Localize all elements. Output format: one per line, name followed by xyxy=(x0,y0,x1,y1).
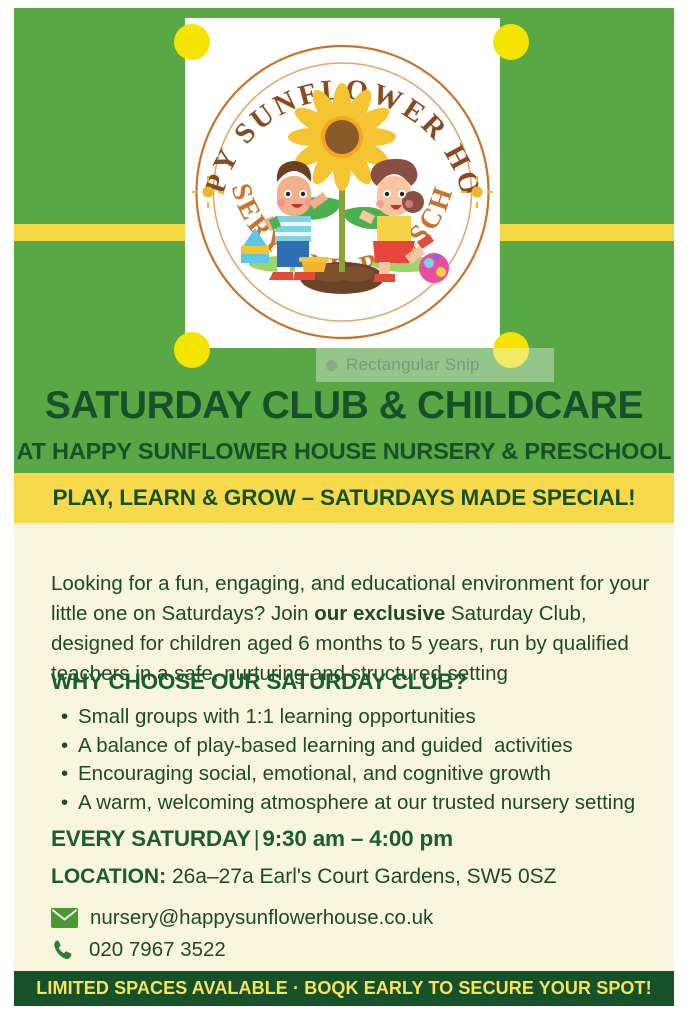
phone-number[interactable]: 020 7967 3522 xyxy=(89,938,226,962)
corner-dot-top-right xyxy=(493,24,529,60)
intro-bold: our exclusive xyxy=(314,602,445,625)
email-row[interactable]: nursery@happysunflowerhouse.co.uk xyxy=(51,906,433,930)
list-item: A warm, welcoming atmosphere at our trus… xyxy=(61,789,671,818)
schedule-label: EVERY SATURDAY xyxy=(51,826,251,851)
poster-frame: HAPPY SUNFLOWER HOUSE NURSERY AND PRESCH… xyxy=(0,0,688,1015)
rectangular-snip-watermark: Rectangular Snip xyxy=(316,348,554,382)
circle-icon xyxy=(326,360,337,371)
logo-illustration: HAPPY SUNFLOWER HOUSE NURSERY AND PRESCH… xyxy=(191,24,494,342)
schedule-separator: | xyxy=(254,826,260,851)
list-item: A balance of play-based learning and gui… xyxy=(61,732,671,761)
schedule-line: EVERY SATURDAY|9:30 am – 4:00 pm xyxy=(51,826,453,852)
why-heading: WHY CHOOSE OUR SATURDAY CLUB? xyxy=(51,669,467,695)
footer-text: LIMITED SPACES AVALABLE · BOQK EARLY TO … xyxy=(36,978,651,999)
benefits-list: Small groups with 1:1 learning opportuni… xyxy=(61,703,671,817)
tagline-banner: PLAY, LEARN & GROW – SATURDAYS MADE SPEC… xyxy=(14,473,674,523)
body-section: Looking for a fun, engaging, and educati… xyxy=(14,523,674,964)
poster: HAPPY SUNFLOWER HOUSE NURSERY AND PRESCH… xyxy=(14,8,674,1006)
corner-dot-bottom-left xyxy=(174,332,210,368)
envelope-icon xyxy=(51,908,78,928)
list-item: Encouraging social, emotional, and cogni… xyxy=(61,760,671,789)
email-address[interactable]: nursery@happysunflowerhouse.co.uk xyxy=(90,906,433,930)
snip-label: Rectangular Snip xyxy=(346,355,480,375)
logo-badge: HAPPY SUNFLOWER HOUSE NURSERY AND PRESCH… xyxy=(191,24,494,342)
page-title: SATURDAY CLUB & CHILDCARE xyxy=(14,384,674,428)
location-label: LOCATION: xyxy=(51,865,166,888)
page-subtitle: AT HAPPY SUNFLOWER HOUSE NURSERY & PRESC… xyxy=(14,438,674,465)
tagline-text: PLAY, LEARN & GROW – SATURDAYS MADE SPEC… xyxy=(53,485,636,511)
hero-section: HAPPY SUNFLOWER HOUSE NURSERY AND PRESCH… xyxy=(14,8,674,473)
footer-banner: LIMITED SPACES AVALABLE · BOQK EARLY TO … xyxy=(14,971,674,1006)
list-item: Small groups with 1:1 learning opportuni… xyxy=(61,703,671,732)
corner-dot-top-left xyxy=(174,24,210,60)
location-line: LOCATION: 26a–27a Earl's Court Gardens, … xyxy=(51,865,556,889)
location-address: 26a–27a Earl's Court Gardens, SW5 0SZ xyxy=(172,865,557,888)
schedule-hours: 9:30 am – 4:00 pm xyxy=(262,826,452,851)
phone-icon xyxy=(52,938,76,962)
phone-row[interactable]: 020 7967 3522 xyxy=(52,938,226,962)
